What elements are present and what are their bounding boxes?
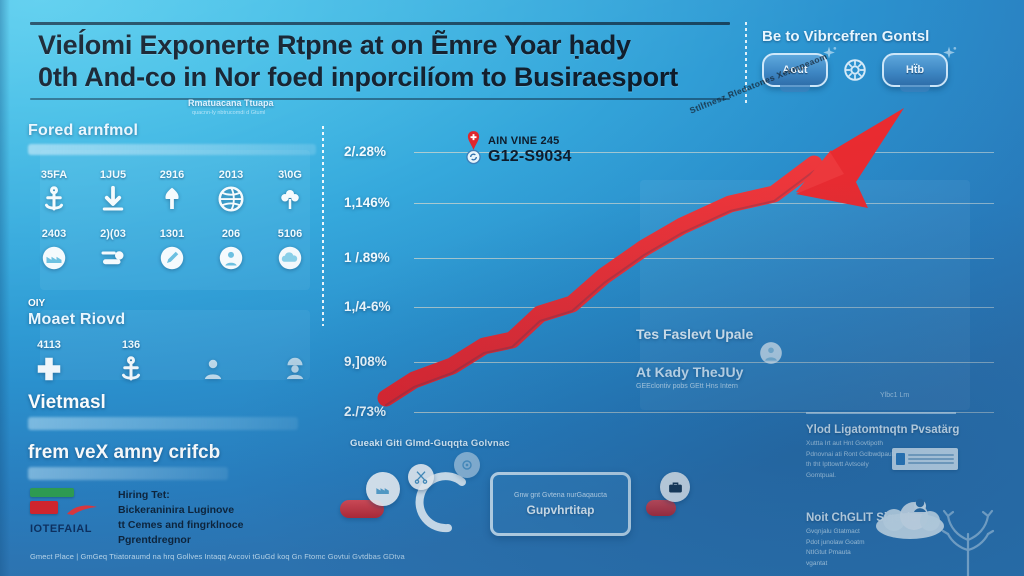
worker-icon (280, 354, 310, 384)
chart-callout-2: G12-S9034 (466, 148, 572, 166)
download-arrow-icon (98, 184, 128, 214)
swoosh-icon (66, 503, 98, 517)
red-bar-icon (30, 501, 58, 514)
header-rule-bottom (30, 98, 730, 100)
stat-cell[interactable]: 206 (205, 228, 257, 273)
stat-cell[interactable]: 5106 (264, 228, 316, 273)
stat-value: 35FA (41, 169, 67, 181)
vertical-divider (322, 126, 324, 326)
plant-icon (928, 500, 1008, 576)
stat-row-2: 2403 2)(03 1301 206 5106 (28, 228, 316, 273)
stat-row-1: 35FA 1JU5 2916 2013 3\0G (28, 169, 316, 214)
plus-icon (34, 354, 64, 384)
id-card-lines (908, 452, 954, 466)
globe-icon (216, 184, 246, 214)
controls-cluster: Be to Vibrcefren Gontsl Aout Hẗb (762, 28, 1012, 87)
mid-note-2: At Kady TheJUy (636, 364, 866, 380)
header-rule-top (30, 22, 730, 25)
stat-value: 2403 (42, 228, 66, 240)
infographic-canvas: Vieĺomi Exponerte Rtpne at on Ẽmre Yoar … (0, 0, 1024, 576)
id-card-photo (896, 453, 905, 465)
section2-item[interactable] (274, 351, 316, 384)
left-panel-section-3: Vietmasl frem veX amny crifcb (28, 392, 328, 480)
anchor-icon-2 (116, 354, 146, 384)
diagram-box-label: Gupvhrtitap (527, 503, 595, 517)
section2-value: 4113 (37, 339, 61, 351)
stat-cell[interactable]: 2)(03 (87, 228, 139, 273)
chart-bottom-note: Ylbc1 Lm (880, 392, 909, 399)
control-button-right-label: Hẗb (906, 64, 924, 76)
section2-items: 4113 136 (28, 339, 316, 384)
stat-cell[interactable]: 2916 (146, 169, 198, 214)
page-title-line-1: Vieĺomi Exponerte Rtpne at on Ẽmre Yoar … (38, 30, 631, 60)
sparkle-icon-2 (938, 45, 960, 65)
section3-blur-1 (28, 417, 298, 430)
pencil-icon (157, 243, 187, 273)
green-bar-icon (30, 488, 74, 497)
section2-item[interactable] (192, 351, 234, 384)
id-card-icon (892, 448, 958, 470)
diagram-sub-label: Rmatuacana Ttuapa (188, 98, 274, 108)
section3-heading-1: Vietmasl (28, 392, 328, 414)
chart-callout-1-label: AIN VINE 245 (488, 135, 559, 147)
process-diagram: Gueaki Giti Glmd-Guqqta Golvnac Gnw gnt … (350, 438, 770, 568)
left-edge-shade (0, 0, 10, 576)
red-accent-2 (646, 500, 676, 516)
section2-value: 136 (122, 339, 140, 351)
person-badge-icon (758, 340, 784, 366)
stat-cell[interactable]: 1JU5 (87, 169, 139, 214)
chart-mid-notes: Tes Faslevt Upale At Kady TheJUy GEEclon… (636, 326, 866, 393)
factory-icon-2[interactable] (366, 472, 400, 506)
stat-cell[interactable]: 2013 (205, 169, 257, 214)
stat-value: 5106 (278, 228, 302, 240)
gear-icon-2[interactable] (454, 452, 480, 478)
person-icon-2 (198, 354, 228, 384)
mid-note-3: GEEclontiv pobs GEtt Hns Intern (636, 382, 866, 393)
logo-line: Pgrentdregnor (118, 533, 243, 548)
logo-brand: IOTEFAIAL (30, 523, 108, 535)
left-panel: Fored arnfmol 35FA 1JU5 2916 2013 3\0G (28, 122, 316, 273)
scissors-icon[interactable] (408, 464, 434, 490)
mid-note-1: Tes Faslevt Upale (636, 326, 866, 342)
left-panel-subheading (28, 144, 316, 155)
stat-cell[interactable]: 2403 (28, 228, 80, 273)
logo-line: Bickeraninira Luginove (118, 503, 243, 518)
tools-icon (98, 243, 128, 273)
control-button-right[interactable]: Hẗb (882, 53, 948, 87)
stat-value: 206 (222, 228, 240, 240)
stat-value: 2013 (219, 169, 243, 181)
flower-icon (275, 184, 305, 214)
stat-value: 2)(03 (100, 228, 126, 240)
diagram-caption: Gueaki Giti Glmd-Guqqta Golvnac (350, 438, 770, 449)
diagram-sub-note: quacnn-ly nbtrucomdi d Gtuml (192, 110, 265, 116)
right-block-1-heading: Ylod Ligatomtnqtn Pvsatärg (806, 424, 1011, 436)
section2-heading: Moaet Riovd (28, 311, 316, 329)
briefcase-icon[interactable] (660, 472, 690, 502)
factory-icon (39, 243, 69, 273)
logo-line: tt Cemes and fingrklnoce (118, 518, 243, 533)
header: Vieĺomi Exponerte Rtpne at on Ẽmre Yoar … (30, 22, 730, 100)
tree-icon (157, 184, 187, 214)
section2-item[interactable]: 4113 (28, 339, 70, 384)
page-title: Vieĺomi Exponerte Rtpne at on Ẽmre Yoar … (30, 25, 730, 98)
section2-item[interactable]: 136 (110, 339, 152, 384)
cloud-icon (275, 243, 305, 273)
page-title-line-2: 0th And-co in Nor foed inporcilíom to Bu… (38, 62, 730, 94)
left-panel-heading: Fored arnfmol (28, 122, 316, 140)
stat-value: 1301 (160, 228, 184, 240)
stat-cell[interactable]: 3\0G (264, 169, 316, 214)
section2-eyebrow: OIY (28, 298, 316, 309)
stat-value: 2916 (160, 169, 184, 181)
left-panel-section-2: OIY Moaet Riovd 4113 136 (28, 298, 316, 384)
gear-icon[interactable] (842, 57, 868, 83)
blue-pin-icon (466, 149, 481, 165)
stat-cell[interactable]: 1301 (146, 228, 198, 273)
logo-text: Hiring Tet: Bickeraninira Luginove tt Ce… (118, 488, 243, 548)
logo-line: Hiring Tet: (118, 488, 243, 503)
stat-value: 3\0G (278, 169, 302, 181)
chart-callout-2-label: G12-S9034 (488, 148, 572, 166)
stat-value: 1JU5 (100, 169, 126, 181)
logo-mark: IOTEFAIAL (30, 488, 108, 548)
controls-title: Be to Vibrcefren Gontsl (762, 28, 1012, 45)
section3-heading-2: frem veX amny crifcb (28, 442, 328, 464)
section3-blur-2 (28, 467, 228, 480)
diagram-box[interactable]: Gnw gnt Gvtena nurGaqaucta Gupvhrtitap (490, 472, 631, 536)
stat-cell[interactable]: 35FA (28, 169, 80, 214)
anchor-icon (39, 184, 69, 214)
diagram-box-top: Gnw gnt Gvtena nurGaqaucta (514, 491, 607, 502)
logo-block: IOTEFAIAL Hiring Tet: Bickeraninira Lugi… (30, 488, 340, 548)
person-icon (216, 243, 246, 273)
